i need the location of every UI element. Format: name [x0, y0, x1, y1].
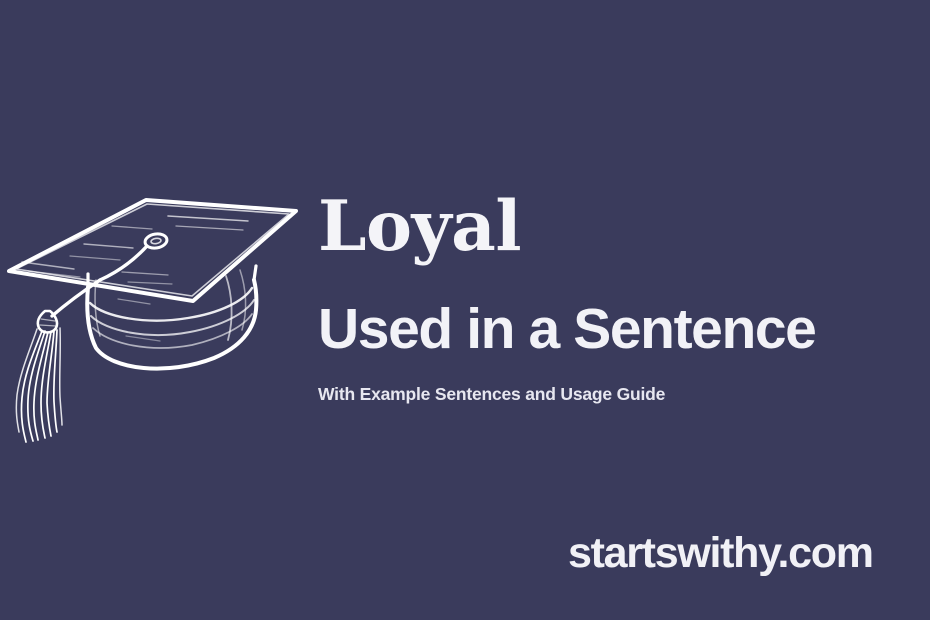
- page-headline: Used in a Sentence: [318, 301, 918, 358]
- page-tagline: With Example Sentences and Usage Guide: [318, 386, 918, 404]
- site-domain-label: startswithy.com: [568, 529, 873, 578]
- graduation-cap-icon: [0, 170, 310, 455]
- hero-banner: Loyal Used in a Sentence With Example Se…: [0, 0, 930, 620]
- hero-text-block: Loyal Used in a Sentence With Example Se…: [318, 192, 918, 404]
- page-title-word: Loyal: [318, 192, 918, 261]
